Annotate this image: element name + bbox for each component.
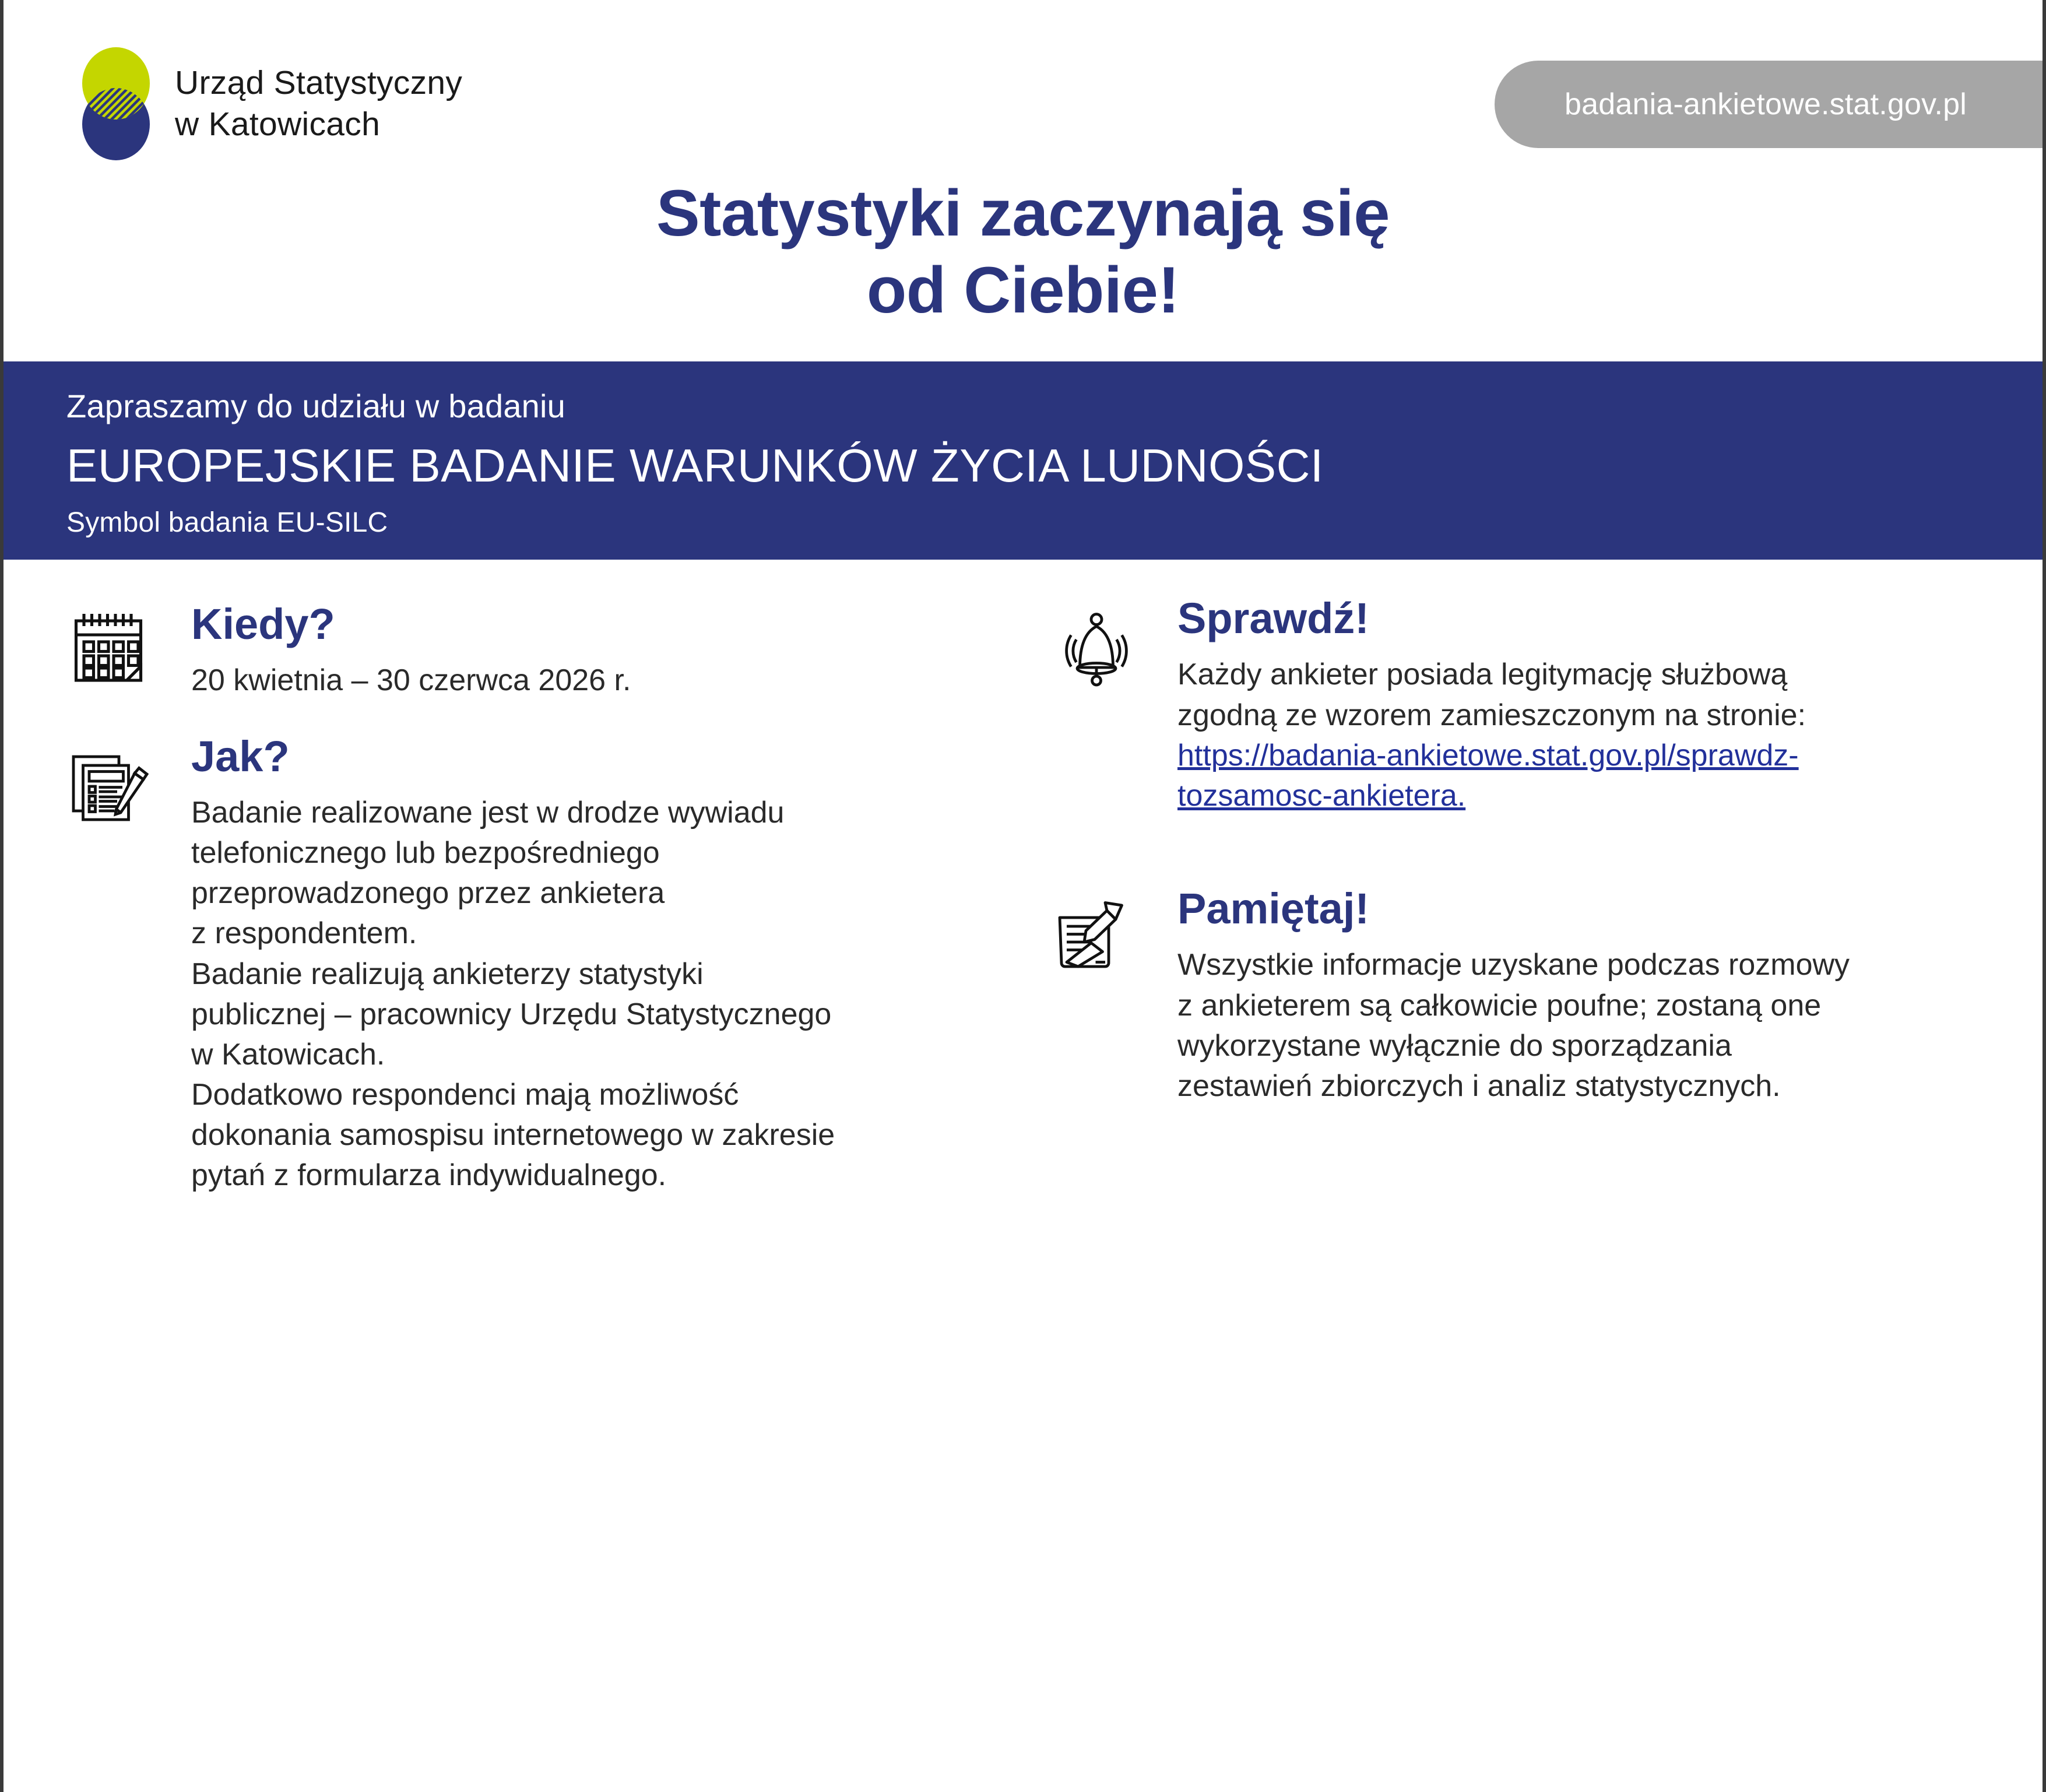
bell-icon	[1053, 595, 1158, 693]
url-badge-text: badania-ankietowe.stat.gov.pl	[1565, 87, 1967, 122]
page-title: Statystyki zaczynają się od Ciebie!	[3, 175, 2043, 329]
banner-survey-name: EUROPEJSKIE BADANIE WARUNKÓW ŻYCIA LUDNO…	[66, 439, 2043, 493]
section-sprawdz-text: Każdy ankieter posiada legitymację służb…	[1177, 655, 1962, 816]
section-kiedy-body: Kiedy? 20 kwietnia – 30 czerwca 2026 r.	[191, 600, 976, 701]
section-kiedy-text: 20 kwietnia – 30 czerwca 2026 r.	[191, 660, 976, 701]
section-sprawdz: Sprawdź! Każdy ankieter posiada legityma…	[1053, 595, 1962, 816]
left-column: Kiedy? 20 kwietnia – 30 czerwca 2026 r.	[66, 600, 976, 1196]
jak-line: publicznej – pracownicy Urzędu Statystyc…	[191, 995, 976, 1035]
logo-text: Urząd Statystyczny w Katowicach	[175, 62, 462, 146]
poster-canvas: Urząd Statystyczny w Katowicach badania-…	[0, 0, 2046, 1792]
jak-line: Dodatkowo respondenci mają możliwość	[191, 1075, 976, 1115]
jak-line: Badanie realizowane jest w drodze wywiad…	[191, 793, 976, 833]
page-title-line-1: Statystyki zaczynają się	[3, 175, 2043, 252]
jak-line: pytań z formularza indywidualnego.	[191, 1155, 976, 1196]
section-sprawdz-body: Sprawdź! Każdy ankieter posiada legityma…	[1177, 595, 1962, 816]
section-pamietaj: Pamiętaj! Wszystkie informacje uzyskane …	[1053, 885, 1962, 1106]
jak-line: Badanie realizują ankieterzy statystyki	[191, 954, 976, 995]
sprawdz-link-line-2[interactable]: tozsamosc-ankietera.	[1177, 776, 1962, 816]
section-jak-heading: Jak?	[191, 733, 976, 780]
pamietaj-line: Wszystkie informacje uzyskane podczas ro…	[1177, 945, 1962, 985]
section-pamietaj-heading: Pamiętaj!	[1177, 885, 1962, 932]
jak-line: dokonania samospisu internetowego w zakr…	[191, 1115, 976, 1155]
jak-line: z respondentem.	[191, 913, 976, 954]
section-pamietaj-body: Pamiętaj! Wszystkie informacje uzyskane …	[1177, 885, 1962, 1106]
page-title-line-2: od Ciebie!	[3, 252, 2043, 329]
section-sprawdz-heading: Sprawdź!	[1177, 595, 1962, 642]
jak-line: telefonicznego lub bezpośredniego	[191, 833, 976, 873]
banner-survey-symbol: Symbol badania EU-SILC	[66, 507, 2043, 539]
urzad-statystyczny-logo-icon	[72, 45, 160, 162]
sprawdz-line: zgodną ze wzorem zamieszczonym na stroni…	[1177, 695, 1962, 736]
right-column: Sprawdź! Każdy ankieter posiada legityma…	[1053, 595, 1962, 1106]
questionnaire-pencil-icon	[66, 733, 171, 831]
section-jak-text: Badanie realizowane jest w drodze wywiad…	[191, 793, 976, 1196]
logo-line-1: Urząd Statystyczny	[175, 62, 462, 104]
url-badge[interactable]: badania-ankietowe.stat.gov.pl	[1495, 61, 2043, 148]
section-kiedy-heading: Kiedy?	[191, 600, 976, 648]
section-jak: Jak? Badanie realizowane jest w drodze w…	[66, 733, 976, 1196]
jak-line: w Katowicach.	[191, 1035, 976, 1075]
banner-invitation: Zapraszamy do udziału w badaniu	[66, 387, 2043, 425]
sprawdz-link-line-1[interactable]: https://badania-ankietowe.stat.gov.pl/sp…	[1177, 736, 1962, 776]
poster-header: Urząd Statystyczny w Katowicach badania-…	[3, 0, 2043, 361]
section-jak-body: Jak? Badanie realizowane jest w drodze w…	[191, 733, 976, 1196]
jak-line: przeprowadzonego przez ankietera	[191, 873, 976, 913]
note-pushpin-icon	[1053, 885, 1158, 983]
sprawdz-line: Każdy ankieter posiada legitymację służb…	[1177, 655, 1962, 695]
pamietaj-line: wykorzystane wyłącznie do sporządzania	[1177, 1026, 1962, 1066]
logo: Urząd Statystyczny w Katowicach	[72, 45, 462, 162]
calendar-icon	[66, 600, 171, 699]
logo-line-2: w Katowicach	[175, 104, 462, 145]
section-kiedy: Kiedy? 20 kwietnia – 30 czerwca 2026 r.	[66, 600, 976, 701]
survey-banner: Zapraszamy do udziału w badaniu EUROPEJS…	[3, 361, 2043, 560]
pamietaj-line: zestawień zbiorczych i analiz statystycz…	[1177, 1066, 1962, 1106]
section-pamietaj-text: Wszystkie informacje uzyskane podczas ro…	[1177, 945, 1962, 1106]
pamietaj-line: z ankieterem są całkowicie poufne; zosta…	[1177, 986, 1962, 1026]
